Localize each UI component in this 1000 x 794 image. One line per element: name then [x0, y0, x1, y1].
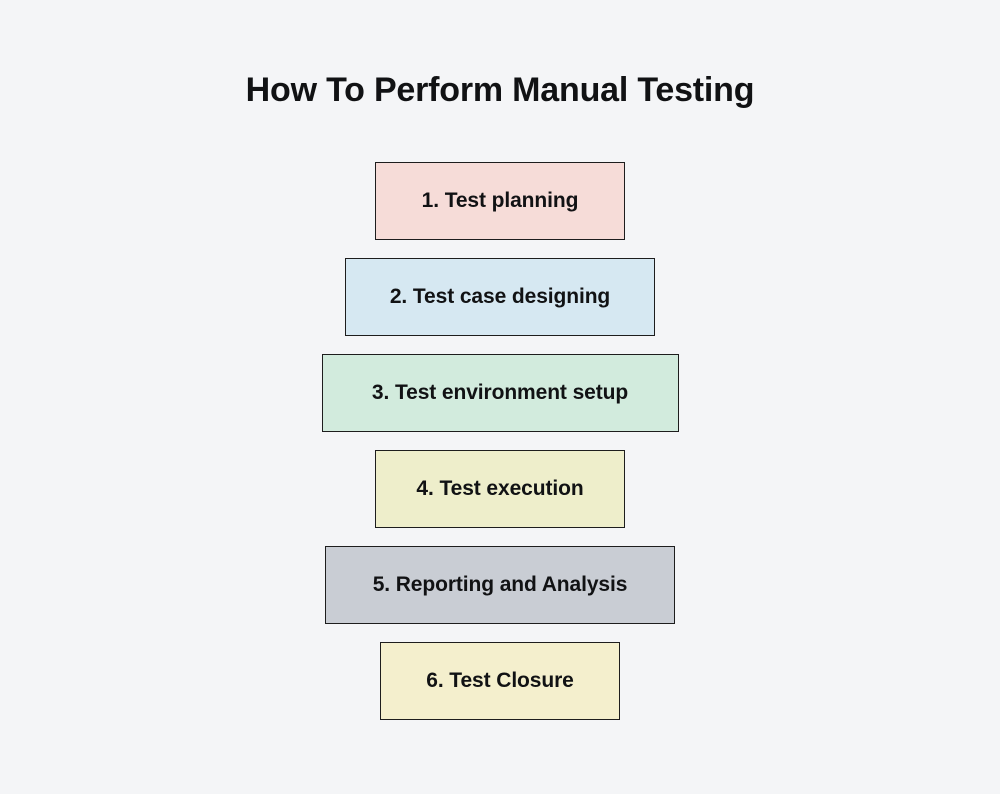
step-label-1: 1. Test planning [422, 188, 579, 214]
step-box-5[interactable]: 5. Reporting and Analysis [325, 546, 675, 624]
step-label-4: 4. Test execution [416, 476, 583, 502]
step-box-3[interactable]: 3. Test environment setup [322, 354, 679, 432]
step-label-3: 3. Test environment setup [372, 380, 628, 406]
step-stack: 1. Test planning 2. Test case designing … [0, 162, 1000, 720]
diagram-canvas: How To Perform Manual Testing 1. Test pl… [0, 0, 1000, 794]
step-box-6[interactable]: 6. Test Closure [380, 642, 620, 720]
step-box-2[interactable]: 2. Test case designing [345, 258, 655, 336]
step-box-1[interactable]: 1. Test planning [375, 162, 625, 240]
step-box-4[interactable]: 4. Test execution [375, 450, 625, 528]
step-label-2: 2. Test case designing [390, 284, 610, 310]
step-label-5: 5. Reporting and Analysis [373, 572, 628, 598]
page-title: How To Perform Manual Testing [0, 66, 1000, 114]
step-label-6: 6. Test Closure [426, 668, 574, 694]
